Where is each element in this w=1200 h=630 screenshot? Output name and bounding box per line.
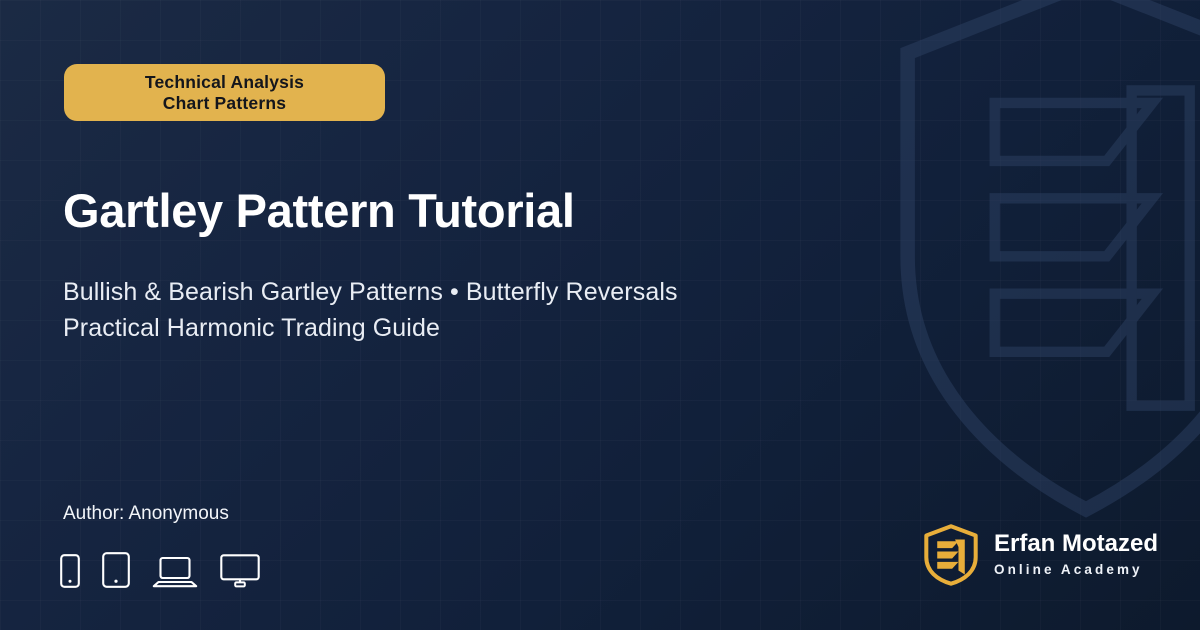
brand-name: Erfan Motazed [994,531,1158,557]
category-badge-line-1: Technical Analysis [145,72,304,93]
brand-text: Erfan Motazed Online Academy [994,531,1158,579]
category-badge-line-2: Chart Patterns [163,93,286,114]
brand-lockup: Erfan Motazed Online Academy [922,524,1158,586]
phone-icon [60,554,80,588]
social-card: Technical Analysis Chart Patterns Gartle… [0,0,1200,630]
page-subtitle-line-1: Bullish & Bearish Gartley Patterns • But… [63,274,678,310]
shield-monogram-icon [922,524,980,586]
laptop-icon [152,556,198,588]
author-label: Author: Anonymous [63,503,229,525]
desktop-icon [220,554,260,588]
brand-tagline: Online Academy [994,561,1158,579]
page-title: Gartley Pattern Tutorial [63,183,575,238]
page-subtitle-line-2: Practical Harmonic Trading Guide [63,310,678,346]
tablet-icon [102,552,130,588]
category-badge: Technical Analysis Chart Patterns [64,64,385,121]
device-support-icons [60,546,260,588]
shield-monogram-watermark [876,0,1200,526]
page-subtitle: Bullish & Bearish Gartley Patterns • But… [63,274,678,346]
